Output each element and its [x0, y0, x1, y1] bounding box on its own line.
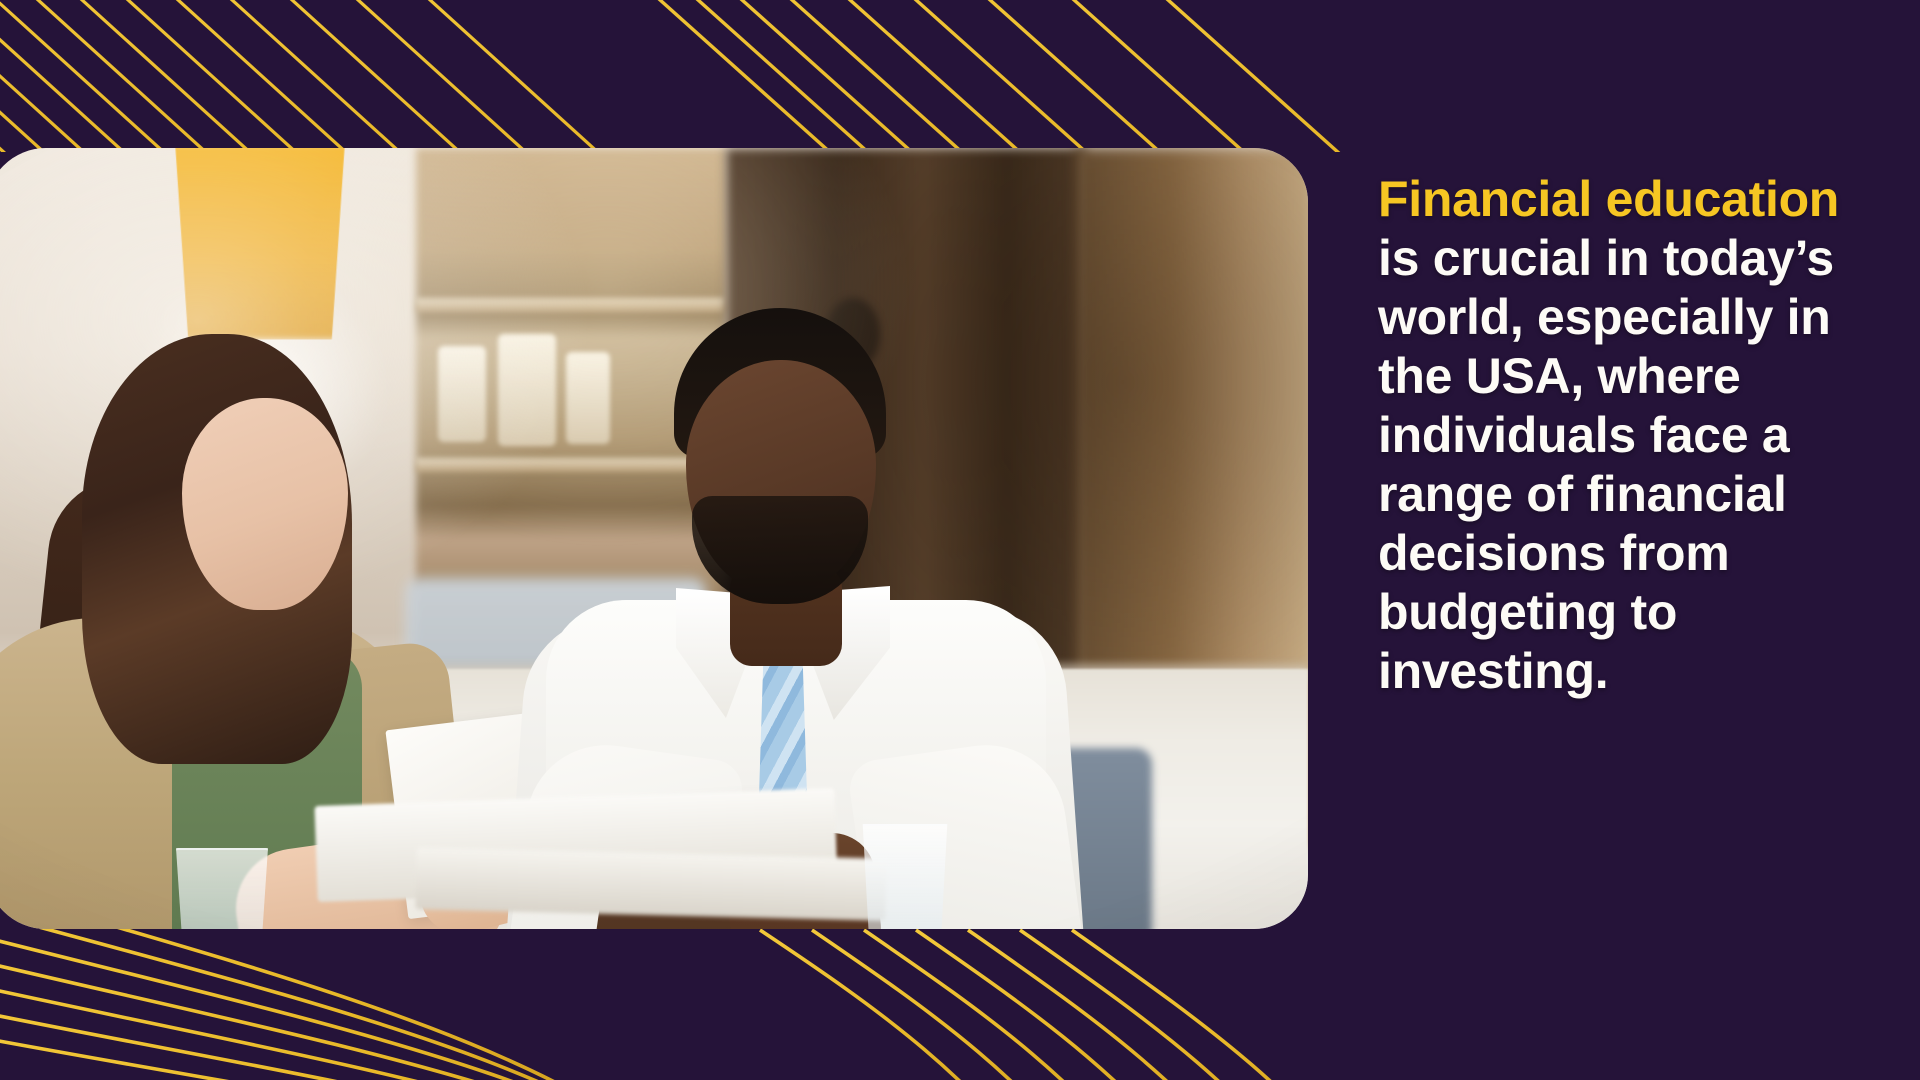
text-column: Financial education is crucial in today’…	[1378, 170, 1878, 701]
slide-paragraph: Financial education is crucial in today’…	[1378, 170, 1878, 701]
body-text: is crucial in today’s world, especially …	[1378, 230, 1834, 699]
highlight-phrase: Financial education	[1378, 171, 1839, 227]
photo-vignette	[0, 148, 1308, 929]
feature-photo	[0, 148, 1308, 929]
slide-canvas: Financial education is crucial in today’…	[0, 0, 1920, 1080]
